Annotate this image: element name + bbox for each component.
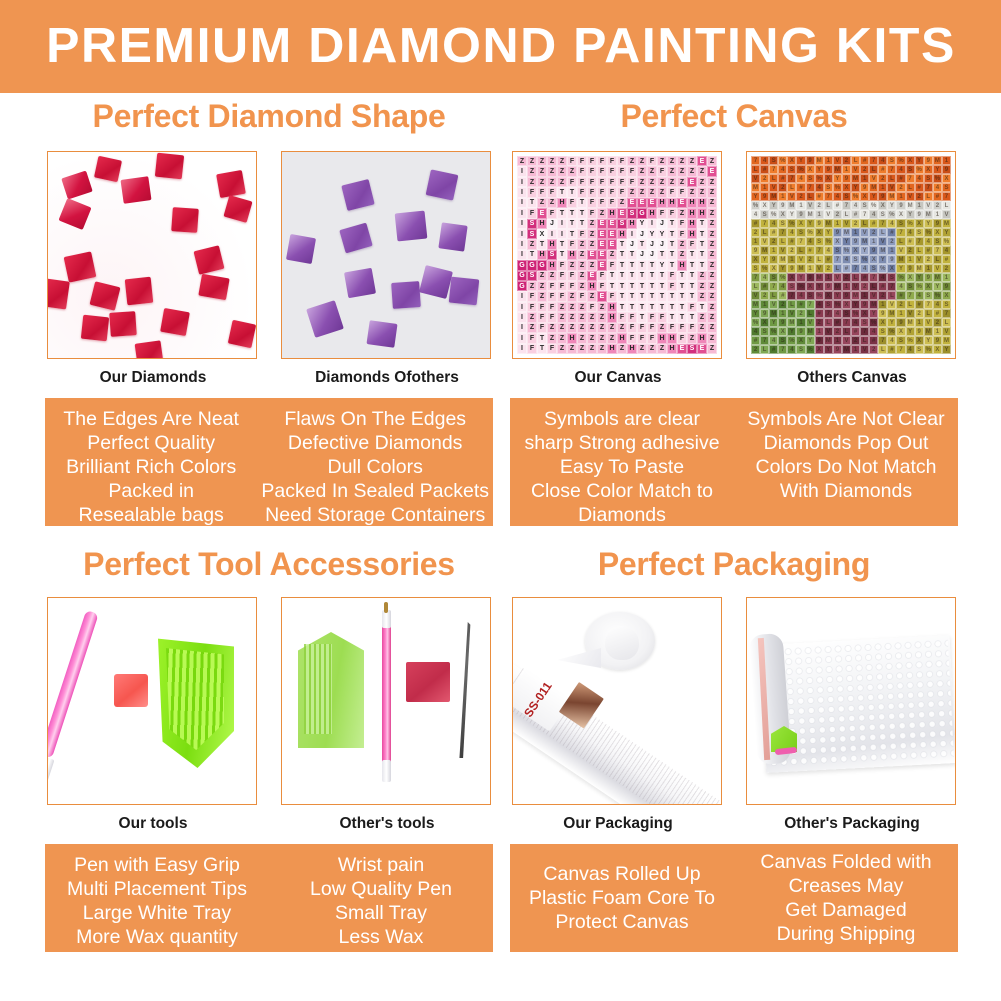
canvas-cell: L: [815, 255, 824, 264]
canvas-cell: L: [824, 318, 833, 327]
canvas-cell: Z: [577, 260, 587, 270]
canvas-cell: 9: [806, 156, 815, 165]
canvas-cell: S: [887, 156, 896, 165]
canvas-cell: V: [942, 327, 951, 336]
other-diamonds-photo: [281, 151, 491, 359]
canvas-cell: V: [833, 273, 842, 282]
fact-line: Diamonds Pop Out: [738, 431, 954, 455]
canvas-cell: T: [617, 291, 627, 301]
canvas-cell: L: [851, 273, 860, 282]
fact-line: Diamonds: [514, 503, 730, 527]
canvas-cell: Z: [587, 291, 597, 301]
canvas-cell: Z: [597, 323, 607, 333]
canvas-cell: 1: [842, 282, 851, 291]
canvas-cell: 7: [815, 246, 824, 255]
canvas-cell: F: [687, 302, 697, 312]
canvas-cell: 9: [833, 228, 842, 237]
canvas-cell: M: [915, 264, 924, 273]
canvas-cell: F: [677, 187, 687, 197]
other-packaging-photo: [746, 597, 956, 805]
canvas-cell: #: [869, 219, 878, 228]
canvas-cell: Z: [537, 156, 547, 166]
canvas-cell: M: [906, 318, 915, 327]
caption-other-diamonds: Diamonds Ofothers: [281, 369, 493, 387]
canvas-cell: F: [607, 291, 617, 301]
canvas-cell: X: [815, 345, 824, 354]
canvas-cell: M: [806, 327, 815, 336]
canvas-cell: Y: [833, 291, 842, 300]
canvas-cell: I: [517, 323, 527, 333]
canvas-cell: H: [627, 344, 637, 354]
canvas-cell: 4: [924, 237, 933, 246]
canvas-cell: 2: [778, 183, 787, 192]
canvas-cell: Z: [707, 239, 717, 249]
canvas-cell: #: [842, 264, 851, 273]
canvas-cell: Z: [587, 323, 597, 333]
canvas-cell: 2: [869, 345, 878, 354]
canvas-cell: Y: [806, 336, 815, 345]
fact-line: Perfect Quality: [49, 431, 253, 455]
canvas-cell: H: [697, 198, 707, 208]
canvas-cell: %: [824, 237, 833, 246]
canvas-cell: T: [637, 312, 647, 322]
canvas-cell: F: [637, 333, 647, 343]
canvas-cell: 4: [842, 255, 851, 264]
canvas-cell: %: [878, 264, 887, 273]
canvas-cell: Y: [637, 219, 647, 229]
canvas-cell: E: [697, 344, 707, 354]
canvas-cell: 1: [906, 255, 915, 264]
canvas-cell: 2: [751, 228, 760, 237]
canvas-cell: 4: [796, 174, 805, 183]
canvas-cell: T: [657, 281, 667, 291]
canvas-cell: 4: [915, 174, 924, 183]
canvas-cell: #: [833, 201, 842, 210]
canvas-cell: S: [924, 291, 933, 300]
canvas-cell: Y: [824, 345, 833, 354]
card-pair-diamond-shape: Our Diamonds Diamonds Ofothers: [45, 151, 493, 387]
canvas-cell: T: [577, 208, 587, 218]
canvas-cell: Z: [687, 156, 697, 166]
canvas-cell: #: [869, 336, 878, 345]
tube-cap-tab-icon: [557, 648, 601, 668]
canvas-cell: T: [627, 271, 637, 281]
canvas-cell: Z: [647, 177, 657, 187]
canvas-cell: 7: [806, 300, 815, 309]
canvas-cell: M: [806, 210, 815, 219]
canvas-cell: S: [769, 156, 778, 165]
canvas-cell: Z: [657, 187, 667, 197]
canvas-cell: J: [627, 239, 637, 249]
other-pink-pen-icon: [382, 624, 391, 768]
fact-line: Protect Canvas: [514, 910, 730, 934]
canvas-cell: F: [607, 156, 617, 166]
canvas-cell: M: [942, 219, 951, 228]
canvas-cell: E: [707, 166, 717, 176]
canvas-cell: T: [557, 239, 567, 249]
caption-our-diamonds: Our Diamonds: [47, 369, 259, 387]
canvas-cell: T: [637, 281, 647, 291]
canvas-cell: Z: [597, 302, 607, 312]
canvas-cell: Z: [597, 312, 607, 322]
canvas-cell: X: [537, 229, 547, 239]
canvas-cell: F: [567, 281, 577, 291]
canvas-cell: F: [527, 291, 537, 301]
canvas-cell: S: [806, 291, 815, 300]
canvas-cell: F: [657, 208, 667, 218]
canvas-cell: L: [906, 300, 915, 309]
canvas-cell: S: [887, 273, 896, 282]
canvas-cell: 9: [869, 246, 878, 255]
canvas-cell: Y: [915, 273, 924, 282]
canvas-cell: 1: [760, 183, 769, 192]
canvas-cell: F: [687, 239, 697, 249]
canvas-cell: 4: [878, 273, 887, 282]
canvas-cell: T: [687, 312, 697, 322]
canvas-cell: 9: [915, 327, 924, 336]
canvas-cell: S: [878, 210, 887, 219]
canvas-cell: V: [796, 255, 805, 264]
canvas-cell: F: [547, 208, 557, 218]
canvas-cell: %: [806, 345, 815, 354]
canvas-cell: 2: [769, 237, 778, 246]
canvas-cell: 9: [787, 264, 796, 273]
canvas-cell: Z: [697, 271, 707, 281]
canvas-cell: Z: [587, 260, 597, 270]
canvas-cell: V: [860, 228, 869, 237]
canvas-cell: F: [587, 187, 597, 197]
canvas-cell: F: [647, 333, 657, 343]
canvas-cell: F: [587, 166, 597, 176]
canvas-cell: G: [517, 260, 527, 270]
canvas-cell: T: [647, 271, 657, 281]
canvas-cell: 9: [842, 291, 851, 300]
canvas-cell: F: [617, 156, 627, 166]
canvas-cell: 9: [824, 165, 833, 174]
canvas-cell: Y: [751, 309, 760, 318]
canvas-cell: T: [557, 250, 567, 260]
canvas-cell: Z: [597, 344, 607, 354]
canvas-cell: T: [667, 239, 677, 249]
canvas-cell: Z: [527, 312, 537, 322]
canvas-cell: I: [557, 229, 567, 239]
canvas-cell: Z: [707, 312, 717, 322]
fact-line: Defective Diamonds: [261, 431, 489, 455]
canvas-cell: Z: [587, 229, 597, 239]
canvas-cell: T: [667, 260, 677, 270]
canvas-cell: Z: [707, 281, 717, 291]
pink-pen-icon: [47, 610, 99, 759]
other-canvas-symbol-grid: 74S%XY9M1V2L#74S%XY9M1L#74S%XY9M1V2L#74S…: [751, 156, 951, 354]
canvas-cell: 4: [760, 273, 769, 282]
canvas-cell: 9: [896, 318, 905, 327]
canvas-cell: Z: [537, 271, 547, 281]
canvas-cell: 9: [751, 246, 760, 255]
canvas-cell: %: [915, 165, 924, 174]
canvas-cell: L: [751, 282, 760, 291]
canvas-cell: Z: [577, 302, 587, 312]
canvas-cell: J: [637, 250, 647, 260]
canvas-cell: F: [557, 260, 567, 270]
canvas-cell: T: [687, 291, 697, 301]
canvas-cell: Z: [647, 344, 657, 354]
canvas-cell: Z: [697, 312, 707, 322]
canvas-cell: Y: [842, 237, 851, 246]
canvas-cell: 1: [860, 174, 869, 183]
canvas-cell: #: [896, 174, 905, 183]
canvas-cell: H: [687, 229, 697, 239]
canvas-cell: 4: [778, 165, 787, 174]
canvas-cell: Y: [833, 174, 842, 183]
fact-line: Colors Do Not Match: [738, 455, 954, 479]
canvas-cell: V: [924, 201, 933, 210]
canvas-cell: T: [647, 291, 657, 301]
canvas-cell: E: [587, 271, 597, 281]
canvas-cell: F: [617, 166, 627, 176]
canvas-cell: 4: [778, 282, 787, 291]
canvas-cell: E: [597, 229, 607, 239]
canvas-cell: I: [627, 229, 637, 239]
canvas-cell: #: [851, 210, 860, 219]
canvas-cell: M: [887, 309, 896, 318]
canvas-cell: 1: [824, 156, 833, 165]
canvas-cell: Y: [942, 345, 951, 354]
canvas-cell: Z: [537, 291, 547, 301]
canvas-cell: F: [577, 229, 587, 239]
canvas-cell: Y: [851, 300, 860, 309]
canvas-cell: 2: [915, 309, 924, 318]
canvas-cell: F: [567, 156, 577, 166]
canvas-cell: 1: [796, 201, 805, 210]
canvas-cell: E: [617, 208, 627, 218]
canvas-cell: F: [647, 312, 657, 322]
canvas-cell: Z: [577, 271, 587, 281]
canvas-cell: #: [887, 228, 896, 237]
canvas-cell: S: [906, 165, 915, 174]
canvas-cell: I: [517, 198, 527, 208]
canvas-cell: X: [942, 291, 951, 300]
canvas-cell: T: [577, 219, 587, 229]
canvas-cell: T: [617, 271, 627, 281]
canvas-cell: T: [667, 219, 677, 229]
canvas-cell: S: [824, 183, 833, 192]
canvas-cell: 1: [933, 327, 942, 336]
canvas-cell: %: [769, 210, 778, 219]
canvas-cell: L: [769, 174, 778, 183]
canvas-cell: 4: [760, 156, 769, 165]
canvas-cell: #: [915, 183, 924, 192]
canvas-cell: L: [942, 201, 951, 210]
canvas-cell: L: [878, 345, 887, 354]
canvas-cell: Z: [527, 166, 537, 176]
canvas-cell: E: [677, 344, 687, 354]
canvas-cell: Z: [567, 323, 577, 333]
canvas-cell: F: [667, 271, 677, 281]
canvas-cell: 9: [806, 273, 815, 282]
canvas-cell: Y: [896, 264, 905, 273]
canvas-cell: #: [815, 192, 824, 201]
canvas-cell: %: [896, 273, 905, 282]
canvas-cell: F: [597, 198, 607, 208]
canvas-cell: %: [751, 318, 760, 327]
canvas-cell: F: [677, 333, 687, 343]
canvas-cell: Y: [924, 336, 933, 345]
canvas-cell: M: [769, 309, 778, 318]
canvas-cell: 4: [896, 165, 905, 174]
canvas-cell: Z: [637, 187, 647, 197]
canvas-cell: T: [567, 187, 577, 197]
canvas-cell: Z: [697, 187, 707, 197]
factbox-diamond-shape: The Edges Are Neat Perfect Quality Brill…: [45, 398, 493, 526]
canvas-cell: T: [577, 198, 587, 208]
canvas-cell: X: [787, 273, 796, 282]
canvas-cell: F: [567, 271, 577, 281]
canvas-cell: Z: [597, 333, 607, 343]
section-title-diamond-shape: Perfect Diamond Shape: [45, 100, 493, 132]
canvas-cell: Z: [657, 344, 667, 354]
canvas-cell: #: [887, 345, 896, 354]
canvas-cell: V: [887, 300, 896, 309]
canvas-cell: %: [842, 246, 851, 255]
canvas-cell: F: [527, 302, 537, 312]
canvas-cell: L: [896, 237, 905, 246]
canvas-cell: %: [906, 219, 915, 228]
canvas-cell: Z: [677, 156, 687, 166]
canvas-cell: 7: [942, 309, 951, 318]
canvas-cell: T: [667, 302, 677, 312]
canvas-cell: T: [617, 239, 627, 249]
canvas-cell: M: [924, 210, 933, 219]
canvas-cell: 4: [887, 219, 896, 228]
caption-other-packaging: Other's Packaging: [746, 815, 958, 833]
canvas-cell: F: [547, 312, 557, 322]
fact-line: Resealable bags: [49, 503, 253, 527]
canvas-cell: #: [942, 255, 951, 264]
canvas-cell: V: [851, 165, 860, 174]
canvas-cell: F: [607, 166, 617, 176]
canvas-cell: #: [778, 291, 787, 300]
section-title-tool-accessories: Perfect Tool Accessories: [45, 548, 493, 580]
canvas-cell: Y: [787, 327, 796, 336]
canvas-cell: S: [527, 219, 537, 229]
canvas-cell: 4: [851, 201, 860, 210]
canvas-cell: X: [878, 201, 887, 210]
canvas-cell: T: [627, 260, 637, 270]
canvas-cell: 7: [778, 228, 787, 237]
canvas-cell: 9: [815, 219, 824, 228]
caption-our-canvas: Our Canvas: [512, 369, 724, 387]
canvas-cell: Z: [677, 250, 687, 260]
canvas-cell: 1: [778, 309, 787, 318]
fact-line: Pen with Easy Grip: [49, 853, 265, 877]
canvas-cell: F: [597, 156, 607, 166]
canvas-cell: E: [587, 250, 597, 260]
canvas-cell: H: [677, 260, 687, 270]
canvas-cell: H: [607, 208, 617, 218]
canvas-cell: %: [906, 336, 915, 345]
canvas-cell: M: [760, 246, 769, 255]
canvas-cell: %: [933, 174, 942, 183]
canvas-cell: M: [851, 174, 860, 183]
canvas-cell: I: [517, 312, 527, 322]
canvas-cell: T: [657, 271, 667, 281]
other-pen-cap-icon: [382, 760, 391, 782]
canvas-cell: 4: [869, 327, 878, 336]
canvas-cell: %: [887, 210, 896, 219]
fact-line: More Wax quantity: [49, 925, 265, 949]
canvas-cell: Z: [687, 166, 697, 176]
canvas-cell: #: [769, 228, 778, 237]
wax-square-icon: [114, 674, 148, 707]
canvas-cell: Z: [707, 333, 717, 343]
canvas-cell: H: [687, 208, 697, 218]
canvas-cell: 9: [815, 336, 824, 345]
canvas-cell: F: [537, 187, 547, 197]
canvas-cell: 7: [842, 318, 851, 327]
canvas-cell: Z: [617, 344, 627, 354]
canvas-cell: 7: [860, 210, 869, 219]
factbox-packaging: Canvas Rolled Up Plastic Foam Core To Pr…: [510, 844, 958, 952]
canvas-cell: H: [627, 219, 637, 229]
canvas-cell: L: [842, 210, 851, 219]
canvas-cell: H: [567, 250, 577, 260]
canvas-cell: F: [527, 344, 537, 354]
canvas-cell: F: [587, 156, 597, 166]
canvas-cell: T: [677, 312, 687, 322]
canvas-cell: T: [647, 260, 657, 270]
canvas-cell: 2: [760, 174, 769, 183]
canvas-cell: Y: [906, 327, 915, 336]
canvas-cell: 2: [851, 336, 860, 345]
canvas-cell: T: [607, 281, 617, 291]
canvas-cell: 1: [796, 318, 805, 327]
canvas-cell: 2: [887, 237, 896, 246]
canvas-cell: S: [751, 264, 760, 273]
canvas-cell: X: [915, 336, 924, 345]
canvas-cell: Z: [547, 177, 557, 187]
canvas-cell: 7: [787, 291, 796, 300]
canvas-cell: Z: [677, 239, 687, 249]
factcol-other-packaging: Canvas Folded with Creases May Get Damag…: [734, 850, 958, 946]
canvas-cell: 7: [942, 192, 951, 201]
canvas-cell: S: [924, 174, 933, 183]
canvas-cell: L: [842, 327, 851, 336]
canvas-cell: S: [760, 327, 769, 336]
canvas-cell: 9: [924, 156, 933, 165]
card-other-diamonds: Diamonds Ofothers: [281, 151, 493, 387]
canvas-cell: Z: [677, 208, 687, 218]
canvas-cell: Z: [637, 156, 647, 166]
canvas-cell: 2: [806, 255, 815, 264]
canvas-cell: 1: [878, 300, 887, 309]
canvas-cell: 7: [760, 219, 769, 228]
canvas-cell: F: [677, 323, 687, 333]
canvas-cell: F: [577, 187, 587, 197]
card-our-packaging: SS-011 Our Packaging: [512, 597, 724, 833]
canvas-cell: T: [677, 281, 687, 291]
canvas-cell: 2: [869, 228, 878, 237]
canvas-cell: I: [517, 291, 527, 301]
canvas-cell: 2: [860, 282, 869, 291]
fact-line: Creases May: [738, 874, 954, 898]
canvas-cell: L: [924, 309, 933, 318]
canvas-cell: 7: [878, 219, 887, 228]
canvas-cell: %: [751, 201, 760, 210]
canvas-cell: T: [637, 260, 647, 270]
canvas-cell: T: [697, 239, 707, 249]
canvas-cell: Z: [667, 177, 677, 187]
caption-our-packaging: Our Packaging: [512, 815, 724, 833]
